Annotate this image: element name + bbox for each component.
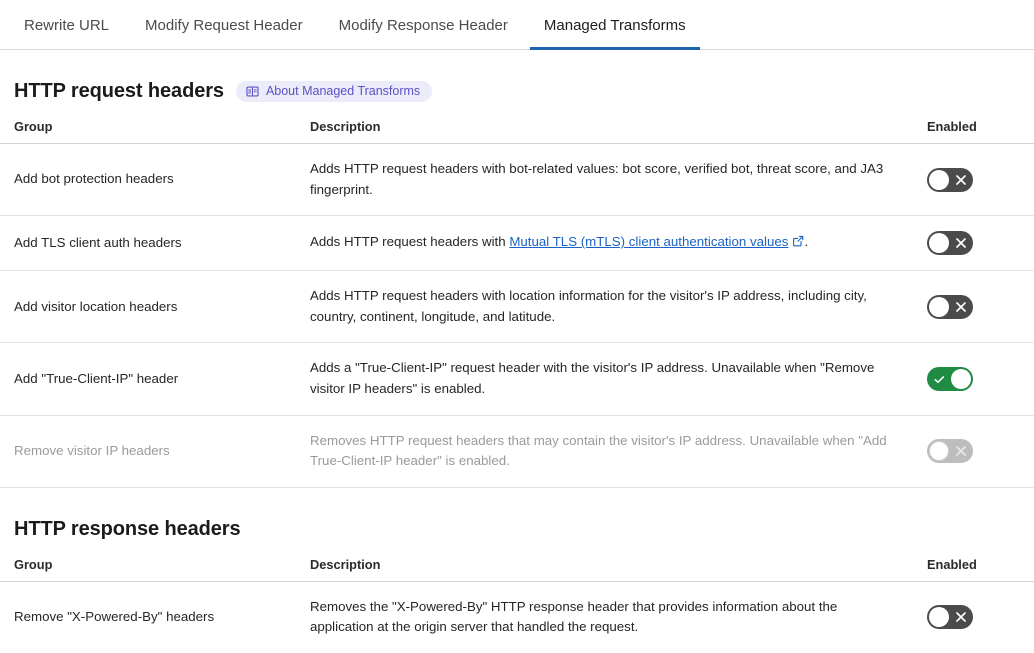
table-row: Remove "X-Powered-By" headers Removes th… (0, 581, 1034, 653)
book-icon (246, 85, 259, 98)
close-icon (956, 295, 966, 319)
toggle-add-tls-client-auth-headers[interactable] (927, 231, 973, 255)
group-description: Adds HTTP request headers with Mutual TL… (305, 216, 913, 271)
toggle-knob (929, 233, 949, 253)
toggle-knob (929, 297, 949, 317)
about-managed-transforms-button[interactable]: About Managed Transforms (236, 81, 432, 102)
column-header-group: Group (0, 557, 305, 582)
response-headers-table: Group Description Enabled Remove "X-Powe… (0, 557, 1034, 653)
http-request-headers-section: HTTP request headers About Managed Trans… (0, 80, 1034, 488)
table-row: Add TLS client auth headers Adds HTTP re… (0, 216, 1034, 271)
table-row: Add bot protection headers Adds HTTP req… (0, 144, 1034, 216)
group-name: Remove visitor IP headers (0, 415, 305, 487)
table-header-row: Group Description Enabled (0, 557, 1034, 582)
column-header-enabled: Enabled (913, 557, 1034, 582)
toggle-knob (929, 170, 949, 190)
column-header-group: Group (0, 119, 305, 144)
toggle-add-bot-protection-headers[interactable] (927, 168, 973, 192)
tab-modify-response-header[interactable]: Modify Response Header (325, 0, 522, 50)
table-row: Add visitor location headers Adds HTTP r… (0, 271, 1034, 343)
toggle-add-visitor-location-headers[interactable] (927, 295, 973, 319)
group-name: Add TLS client auth headers (0, 216, 305, 271)
column-header-description: Description (305, 557, 913, 582)
group-name: Add bot protection headers (0, 144, 305, 216)
description-text-before: Adds HTTP request headers with (310, 234, 509, 249)
group-name: Add visitor location headers (0, 271, 305, 343)
group-description: Removes HTTP request headers that may co… (305, 415, 913, 487)
column-header-enabled: Enabled (913, 119, 1034, 144)
toggle-knob (951, 369, 971, 389)
table-row: Add "True-Client-IP" header Adds a "True… (0, 343, 1034, 415)
about-badge-label: About Managed Transforms (266, 85, 420, 98)
column-header-description: Description (305, 119, 913, 144)
link-label: Mutual TLS (mTLS) client authentication … (509, 234, 788, 249)
enabled-cell (913, 216, 1034, 271)
group-name: Remove "X-Powered-By" headers (0, 581, 305, 653)
group-name: Add "True-Client-IP" header (0, 343, 305, 415)
table-row: Remove visitor IP headers Removes HTTP r… (0, 415, 1034, 487)
enabled-cell (913, 271, 1034, 343)
request-headers-table: Group Description Enabled Add bot protec… (0, 119, 1034, 488)
enabled-cell (913, 144, 1034, 216)
close-icon (956, 231, 966, 255)
description-text-after: . (804, 234, 808, 249)
enabled-cell (913, 415, 1034, 487)
tab-bar: Rewrite URL Modify Request Header Modify… (0, 0, 1034, 50)
request-section-header: HTTP request headers About Managed Trans… (0, 80, 1034, 103)
group-description: Adds a "True-Client-IP" request header w… (305, 343, 913, 415)
tab-rewrite-url[interactable]: Rewrite URL (10, 0, 123, 50)
enabled-cell (913, 581, 1034, 653)
toggle-remove-x-powered-by-headers[interactable] (927, 605, 973, 629)
mtls-documentation-link[interactable]: Mutual TLS (mTLS) client authentication … (509, 234, 788, 249)
http-response-headers-section: HTTP response headers Group Description … (0, 518, 1034, 653)
external-link-icon[interactable] (792, 233, 804, 254)
check-icon (934, 367, 945, 391)
toggle-remove-visitor-ip-headers (927, 439, 973, 463)
close-icon (956, 439, 966, 463)
table-header-row: Group Description Enabled (0, 119, 1034, 144)
toggle-add-true-client-ip-header[interactable] (927, 367, 973, 391)
group-description: Removes the "X-Powered-By" HTTP response… (305, 581, 913, 653)
close-icon (956, 168, 966, 192)
group-description: Adds HTTP request headers with bot-relat… (305, 144, 913, 216)
close-icon (956, 605, 966, 629)
group-description: Adds HTTP request headers with location … (305, 271, 913, 343)
enabled-cell (913, 343, 1034, 415)
response-section-header: HTTP response headers (0, 518, 1034, 541)
toggle-knob (929, 441, 949, 461)
tab-modify-request-header[interactable]: Modify Request Header (131, 0, 317, 50)
response-section-title: HTTP response headers (14, 518, 241, 541)
tab-managed-transforms[interactable]: Managed Transforms (530, 0, 700, 50)
toggle-knob (929, 607, 949, 627)
page-title: HTTP request headers (14, 80, 224, 103)
